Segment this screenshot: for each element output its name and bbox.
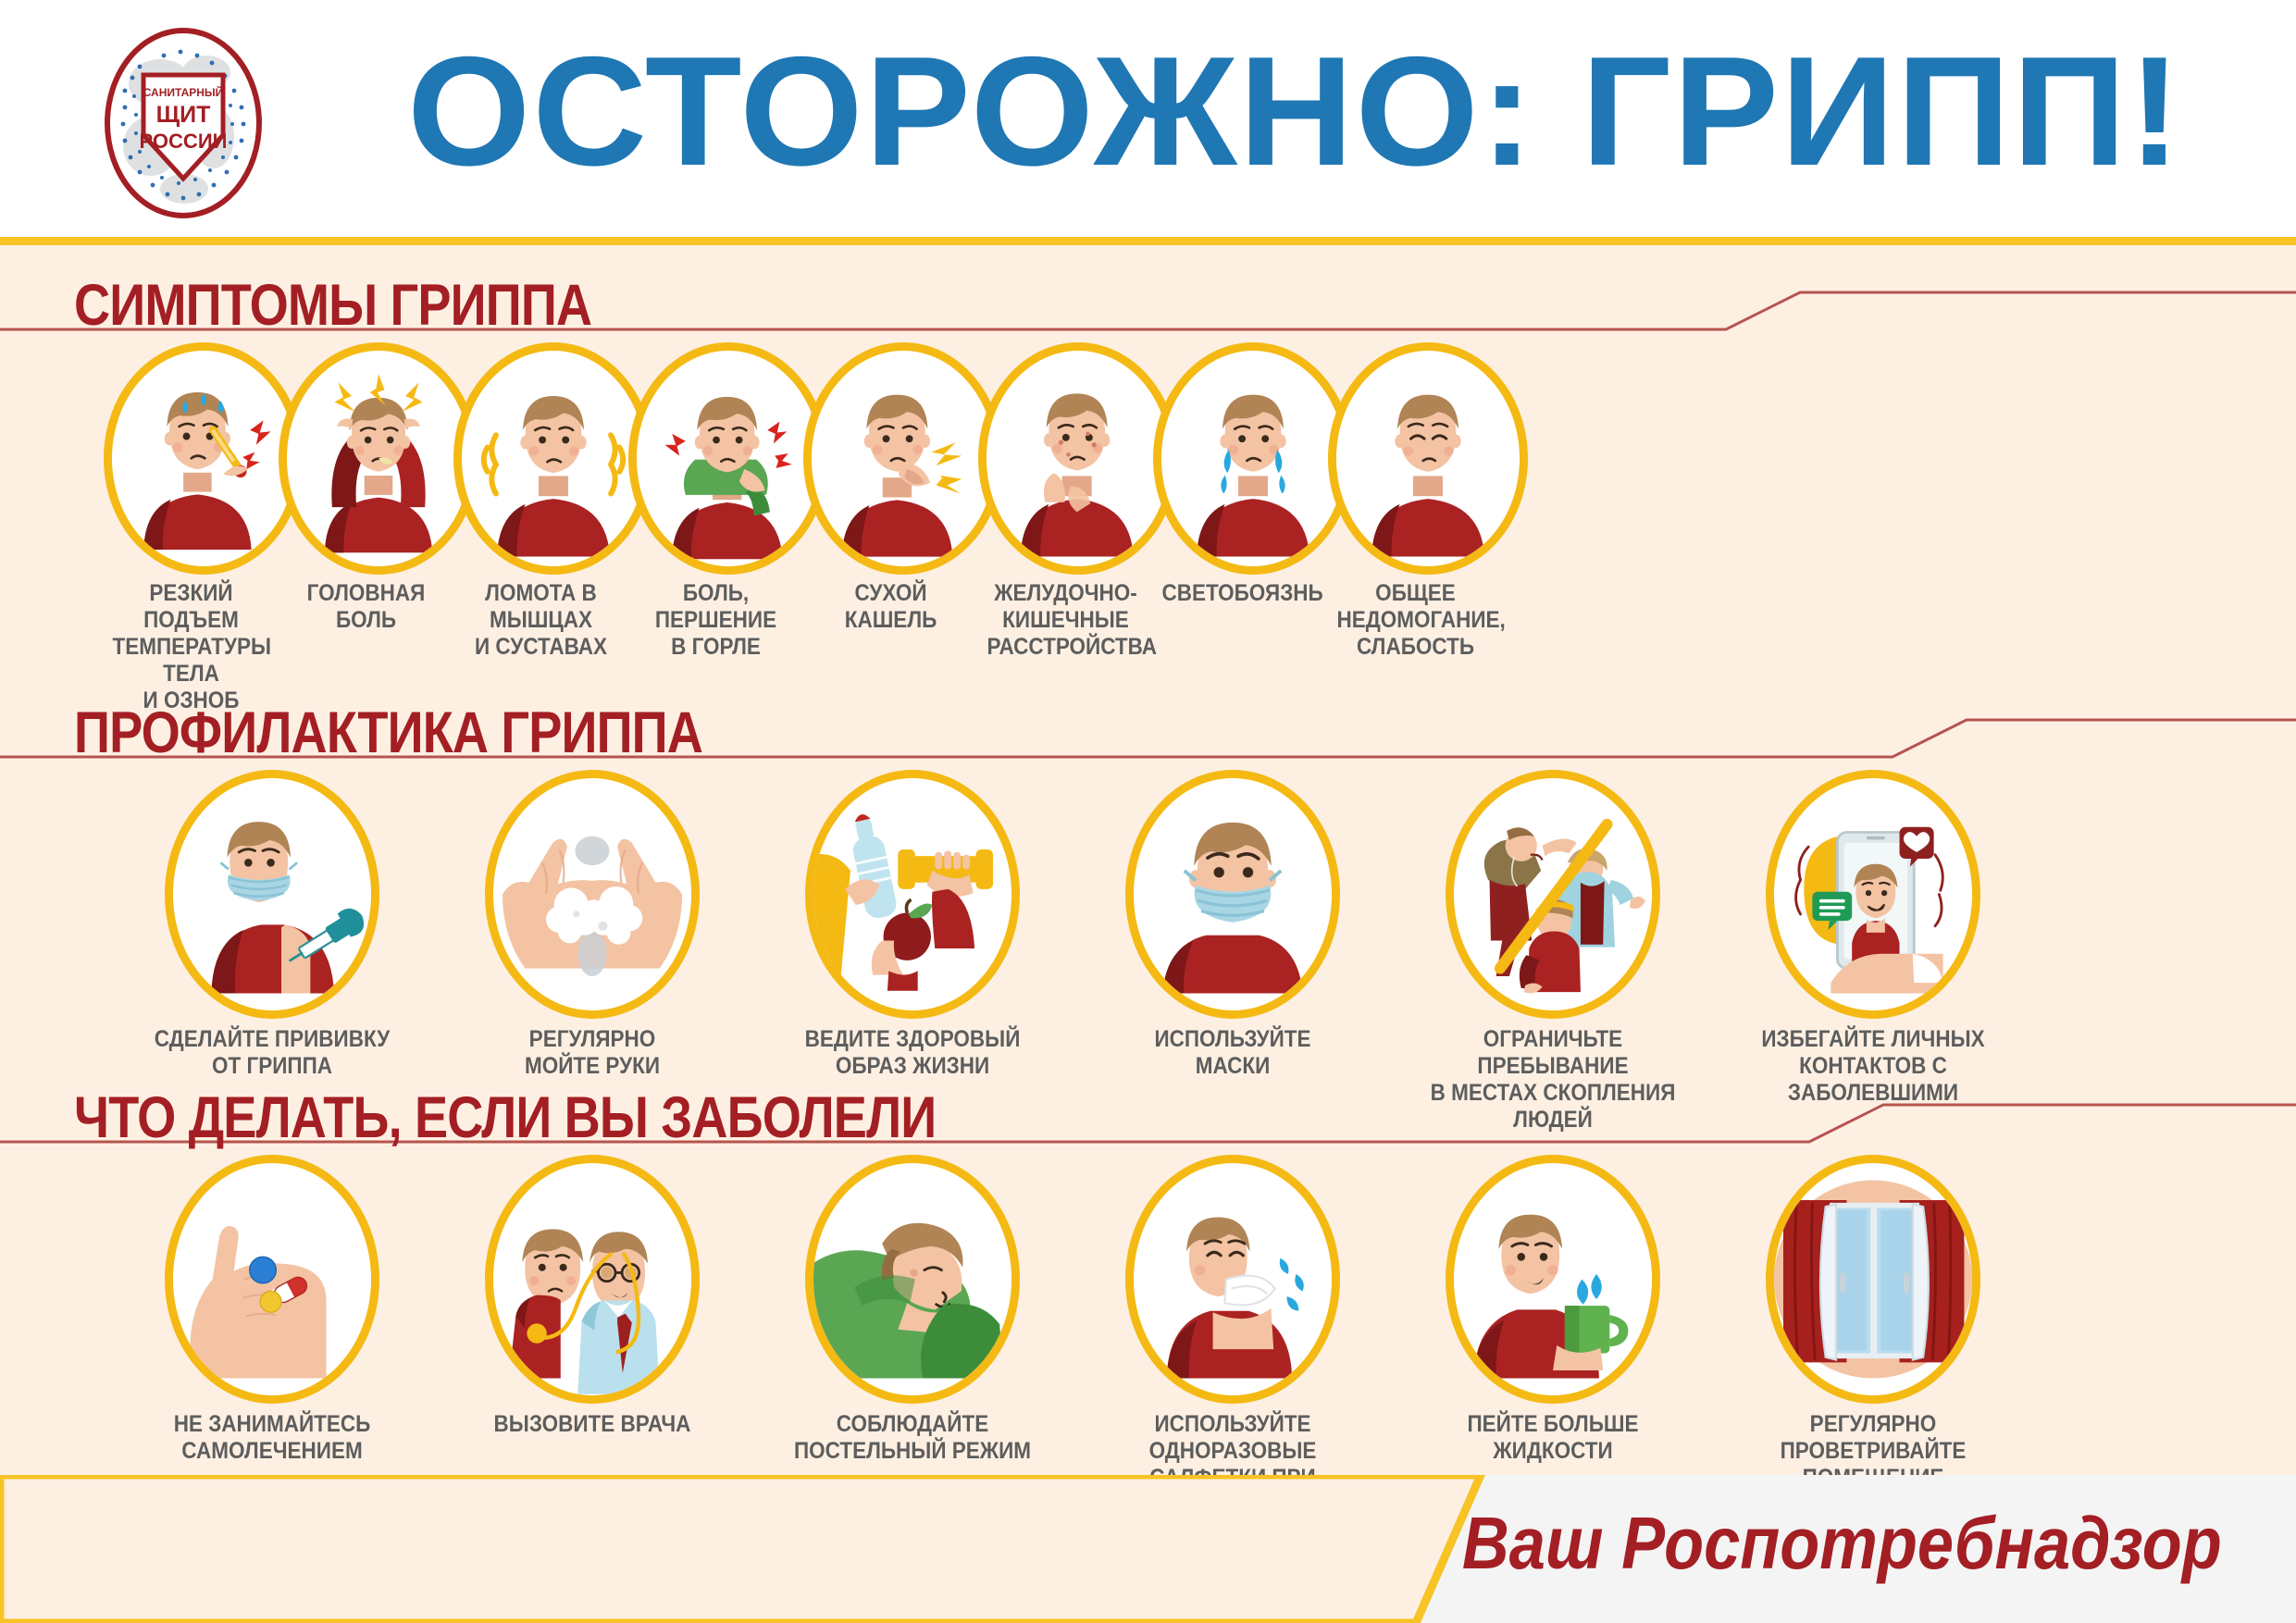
- prevention-item: ОГРАНИЧЬТЕ ПРЕБЫВАНИЕ В МЕСТАХ СКОПЛЕНИЯ…: [1393, 770, 1713, 1134]
- call-doctor-icon: [485, 1155, 700, 1404]
- item-caption: ВЫЗОВИТЕ ВРАЧА: [448, 1411, 736, 1438]
- section-heading-if-ill: ЧТО ДЕЛАТЬ, ЕСЛИ ВЫ ЗАБОЛЕЛИ: [0, 1081, 2296, 1146]
- logo-line-2: ЩИТ: [156, 102, 211, 128]
- prevention-item: ИЗБЕГАЙТЕ ЛИЧНЫХ КОНТАКТОВ С ЗАБОЛЕВШИМИ: [1713, 770, 2033, 1107]
- prevention-item: ИСПОЛЬЗУЙТЕ МАСКИ: [1073, 770, 1393, 1080]
- item-caption: ЖЕЛУДОЧНО- КИШЕЧНЫЕ РАССТРОЙСТВА: [987, 580, 1144, 661]
- prevention-item: ВЕДИТЕ ЗДОРОВЫЙ ОБРАЗ ЖИЗНИ: [752, 770, 1073, 1080]
- if-ill-item: ИСПОЛЬЗУЙТЕ ОДНОРАЗОВЫЕ САЛФЕТКИ ПРИ ЧИХ…: [1073, 1155, 1393, 1518]
- symptoms-item: ЖЕЛУДОЧНО- КИШЕЧНЫЕ РАССТРОЙСТВА: [978, 342, 1153, 661]
- item-caption: БОЛЬ, ПЕРШЕНИЕ В ГОРЛЕ: [637, 580, 794, 661]
- poster-header: САНИТАРНЫЙ ЩИТ РОССИИ ОСТОРОЖНО: ГРИПП!: [0, 0, 2296, 239]
- photophobia-icon: [1153, 342, 1353, 575]
- symptoms-item: ОБЩЕЕ НЕДОМОГАНИЕ, СЛАБОСТЬ: [1328, 342, 1503, 661]
- item-caption: ГОЛОВНАЯ БОЛЬ: [287, 580, 444, 634]
- prevention-item: СДЕЛАЙТЕ ПРИВИВКУ ОТ ГРИППА: [112, 770, 432, 1080]
- logo-line-1: САНИТАРНЫЙ: [143, 85, 224, 99]
- section-title-if-ill: ЧТО ДЕЛАТЬ, ЕСЛИ ВЫ ЗАБОЛЕЛИ: [74, 1084, 936, 1151]
- section-heading-symptoms: СИМПТОМЫ ГРИППА: [0, 268, 2296, 333]
- if-ill-item: НЕ ЗАНИМАЙТЕСЬ САМОЛЕЧЕНИЕМ: [112, 1155, 432, 1465]
- symptoms-item: ГОЛОВНАЯ БОЛЬ: [279, 342, 453, 634]
- disposable-tissue-icon: [1125, 1155, 1340, 1404]
- section-heading-prevention: ПРОФИЛАКТИКА ГРИППА: [0, 696, 2296, 761]
- stomach-upset-icon: [978, 342, 1178, 575]
- if-ill-item: ВЫЗОВИТЕ ВРАЧА: [432, 1155, 752, 1438]
- if-ill-item: ПЕЙТЕ БОЛЬШЕ ЖИДКОСТИ: [1393, 1155, 1713, 1465]
- drink-fluids-icon: [1446, 1155, 1660, 1404]
- poster-root: САНИТАРНЫЙ ЩИТ РОССИИ ОСТОРОЖНО: ГРИПП! …: [0, 0, 2296, 1623]
- item-caption: СОБЛЮДАЙТЕ ПОСТЕЛЬНЫЙ РЕЖИМ: [768, 1411, 1056, 1465]
- header-divider: [0, 237, 2296, 245]
- symptoms-item: РЕЗКИЙ ПОДЪЕМ ТЕМПЕРАТУРЫ ТЕЛА И ОЗНОБ: [104, 342, 279, 714]
- bed-rest-icon: [805, 1155, 1020, 1404]
- symptoms-item: СУХОЙ КАШЕЛЬ: [803, 342, 978, 634]
- logo-line-3: РОССИИ: [140, 130, 228, 153]
- no-self-medication-pills-icon: [165, 1155, 379, 1404]
- prevention-row: СДЕЛАЙТЕ ПРИВИВКУ ОТ ГРИППА РЕГУЛЯРНО МО…: [0, 770, 2296, 1084]
- prevention-item: РЕГУЛЯРНО МОЙТЕ РУКИ: [432, 770, 752, 1080]
- item-caption: ОБЩЕЕ НЕДОМОГАНИЕ, СЛАБОСТЬ: [1336, 580, 1494, 661]
- wash-hands-soap-icon: [485, 770, 700, 1019]
- ventilate-room-window-icon: [1766, 1155, 1980, 1404]
- sanitary-shield-logo: САНИТАРНЫЙ ЩИТ РОССИИ: [95, 26, 271, 220]
- symptoms-item: БОЛЬ, ПЕРШЕНИЕ В ГОРЛЕ: [628, 342, 803, 661]
- item-caption: СВЕТОБОЯЗНЬ: [1161, 580, 1319, 607]
- section-title-symptoms: СИМПТОМЫ ГРИППА: [74, 272, 591, 339]
- if-ill-item: СОБЛЮДАЙТЕ ПОСТЕЛЬНЫЙ РЕЖИМ: [752, 1155, 1073, 1465]
- face-mask-icon: [1125, 770, 1340, 1019]
- headache-icon: [279, 342, 478, 575]
- no-crowds-icon: [1446, 770, 1660, 1019]
- symptoms-item: СВЕТОБОЯЗНЬ: [1153, 342, 1328, 607]
- item-caption: НЕ ЗАНИМАЙТЕСЬ САМОЛЕЧЕНИЕМ: [128, 1411, 416, 1465]
- if-ill-row: НЕ ЗАНИМАЙТЕСЬ САМОЛЕЧЕНИЕМ: [0, 1155, 2296, 1488]
- fever-thermometer-icon: [104, 342, 304, 575]
- item-caption: ИСПОЛЬЗУЙТЕ МАСКИ: [1088, 1026, 1376, 1080]
- footer-notch-shape: [0, 1475, 1555, 1623]
- section-title-prevention: ПРОФИЛАКТИКА ГРИППА: [74, 700, 702, 766]
- symptoms-row: РЕЗКИЙ ПОДЪЕМ ТЕМПЕРАТУРЫ ТЕЛА И ОЗНОБ: [0, 342, 2296, 685]
- symptoms-item: ЛОМОТА В МЫШЦАХ И СУСТАВАХ: [453, 342, 628, 661]
- item-caption: ЛОМОТА В МЫШЦАХ И СУСТАВАХ: [462, 580, 619, 661]
- sore-throat-icon: [628, 342, 828, 575]
- general-weakness-icon: [1328, 342, 1528, 575]
- vaccination-syringe-icon: [165, 770, 379, 1019]
- item-caption: СДЕЛАЙТЕ ПРИВИВКУ ОТ ГРИППА: [128, 1026, 416, 1080]
- item-caption: РЕЗКИЙ ПОДЪЕМ ТЕМПЕРАТУРЫ ТЕЛА И ОЗНОБ: [112, 580, 269, 714]
- item-caption: ПЕЙТЕ БОЛЬШЕ ЖИДКОСТИ: [1409, 1411, 1696, 1465]
- item-caption: РЕГУЛЯРНО МОЙТЕ РУКИ: [448, 1026, 736, 1080]
- footer-brand: Ваш Роспотребнадзор: [1462, 1501, 2222, 1586]
- item-caption: ВЕДИТЕ ЗДОРОВЫЙ ОБРАЗ ЖИЗНИ: [768, 1026, 1056, 1080]
- healthy-lifestyle-icon: [805, 770, 1020, 1019]
- muscle-joint-ache-icon: [453, 342, 653, 575]
- video-call-icon: [1766, 770, 1980, 1019]
- dry-cough-icon: [803, 342, 1003, 575]
- poster-footer: Ваш Роспотребнадзор: [0, 1475, 2296, 1623]
- if-ill-item: РЕГУЛЯРНО ПРОВЕТРИВАЙТЕ ПОМЕЩЕНИЕ: [1713, 1155, 2033, 1492]
- page-title: ОСТОРОЖНО: ГРИПП!: [407, 19, 2135, 204]
- item-caption: СУХОЙ КАШЕЛЬ: [812, 580, 969, 634]
